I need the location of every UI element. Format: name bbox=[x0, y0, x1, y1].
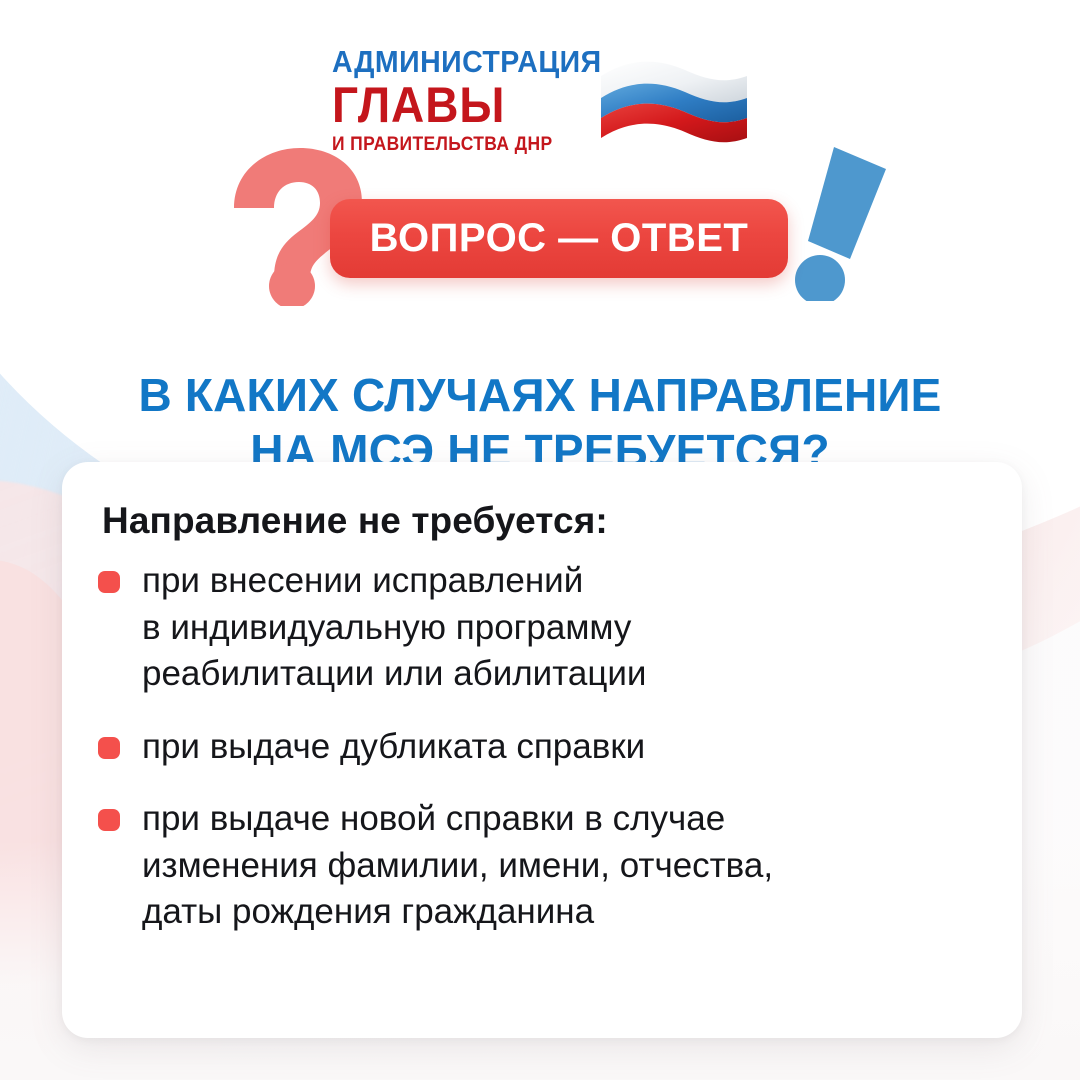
bullet-text: при внесении исправлений в индивидуальну… bbox=[142, 558, 646, 698]
bullet-text-line: в индивидуальную программу bbox=[142, 605, 646, 652]
exclamation-mark-decoration-icon bbox=[794, 143, 912, 306]
logo-line-administration: АДМИНИСТРАЦИЯ bbox=[332, 46, 602, 77]
bullet-text-line: изменения фамилии, имени, отчества, bbox=[142, 843, 773, 890]
bullet-text: при выдаче новой справки в случае измене… bbox=[142, 796, 773, 936]
logo-line-head: ГЛАВЫ bbox=[332, 80, 505, 130]
bullet-text-line: реабилитации или абилитации bbox=[142, 651, 646, 698]
answer-bullet-list: при внесении исправлений в индивидуальну… bbox=[98, 558, 976, 936]
bullet-square-icon bbox=[98, 737, 120, 759]
page-title-line-1: В КАКИХ СЛУЧАЯХ НАПРАВЛЕНИЕ bbox=[60, 367, 1020, 423]
banner-label: ВОПРОС — ОТВЕТ bbox=[370, 216, 749, 261]
bullet-text-line: при выдаче дубликата справки bbox=[142, 724, 645, 771]
bullet-square-icon bbox=[98, 571, 120, 593]
poster-canvas: АДМИНИСТРАЦИЯ ГЛАВЫ И ПРАВИТЕЛЬСТВА ДНР bbox=[0, 0, 1080, 1080]
bullet-text: при выдаче дубликата справки bbox=[142, 724, 645, 771]
bullet-square-icon bbox=[98, 809, 120, 831]
list-item: при выдаче новой справки в случае измене… bbox=[98, 796, 976, 936]
bullet-text-line: даты рождения гражданина bbox=[142, 889, 773, 936]
logo-text-block: АДМИНИСТРАЦИЯ ГЛАВЫ И ПРАВИТЕЛЬСТВА ДНР bbox=[332, 46, 625, 154]
answer-card-title: Направление не требуется: bbox=[102, 500, 976, 542]
answer-card: Направление не требуется: при внесении и… bbox=[62, 462, 1022, 1038]
bullet-text-line: при выдаче новой справки в случае bbox=[142, 796, 773, 843]
bullet-text-line: при внесении исправлений bbox=[142, 558, 646, 605]
list-item: при внесении исправлений в индивидуальну… bbox=[98, 558, 976, 698]
organization-logo: АДМИНИСТРАЦИЯ ГЛАВЫ И ПРАВИТЕЛЬСТВА ДНР bbox=[0, 40, 1080, 160]
question-answer-banner[interactable]: ВОПРОС — ОТВЕТ bbox=[330, 199, 788, 278]
list-item: при выдаче дубликата справки bbox=[98, 724, 976, 771]
